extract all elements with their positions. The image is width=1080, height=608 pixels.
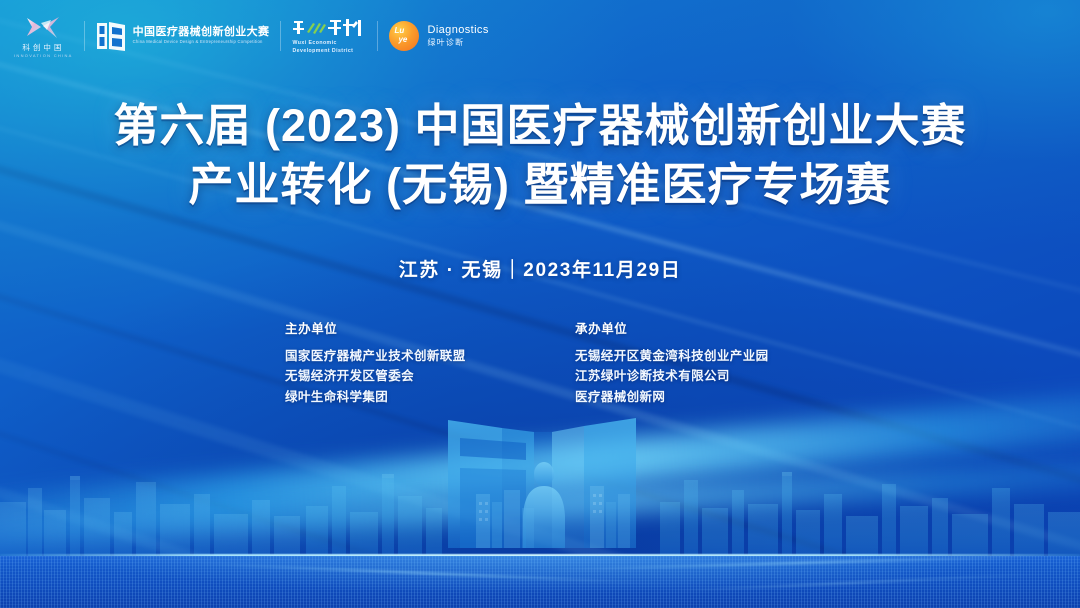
logo-cmdc-cn: 中国医疗器械创新创业大赛 [133,27,270,38]
page-title: 第六届 (2023) 中国医疗器械创新创业大赛 产业转化 (无锡) 暨精准医疗专… [0,96,1080,215]
logo-innovation-china-en: INNOVATION CHINA [14,54,73,58]
host-heading: 主办单位 [285,318,575,337]
horizon-glow-band-secondary [0,450,1080,554]
host-item: 无锡经济开发区管委会 [285,366,575,386]
organizers-section: 主办单位 国家医疗器械产业技术创新联盟 无锡经济开发区管委会 绿叶生命科学集团 … [0,318,1080,407]
host-item: 国家医疗器械产业技术创新联盟 [285,346,575,366]
wuxi-calligraphy-mark-icon [292,18,366,38]
logo-luye-cn: 绿叶诊断 [427,39,488,47]
logo-wuxi-edd-en-line2: Development District [292,48,353,55]
coorganizer-item: 江苏绿叶诊断技术有限公司 [575,366,795,386]
light-rays-decoration [0,0,1080,608]
butterfly-mark-icon [23,14,63,42]
gate-door-motif-icon [430,398,660,558]
title-line-2: 产业转化 (无锡) 暨精准医疗专场赛 [0,155,1080,214]
ground-plane-grid [0,556,1080,608]
logo-divider-2 [280,21,281,51]
logo-cmdc[interactable]: 中国医疗器械创新创业大赛 China Medical Device Design… [96,21,270,51]
host-organizers-column: 主办单位 国家医疗器械产业技术创新联盟 无锡经济开发区管委会 绿叶生命科学集团 [285,318,575,407]
luye-badge-top: Lu [394,27,404,35]
title-line-1: 第六届 (2023) 中国医疗器械创新创业大赛 [0,96,1080,155]
coorganizer-heading: 承办单位 [575,318,795,337]
logo-luye-diagnostics[interactable]: Lu ye Diagnostics 绿叶诊断 [389,21,488,51]
luye-circle-icon: Lu ye [389,21,419,51]
event-poster: 科创中国 INNOVATION CHINA 中国医疗器械创新创业大赛 China… [0,0,1080,608]
coorganizer-item: 医疗器械创新网 [575,387,795,407]
logo-cmdc-en: China Medical Device Design & Entreprene… [133,40,270,44]
logo-divider-1 [84,21,85,51]
sponsor-logo-bar: 科创中国 INNOVATION CHINA 中国医疗器械创新创业大赛 China… [0,0,1080,72]
city-skyline-silhouette [0,416,1080,556]
luye-badge-bottom: ye [398,36,407,44]
logo-innovation-china[interactable]: 科创中国 INNOVATION CHINA [14,14,73,58]
logo-wuxi-edd-en-line1: Wuxi Economic [292,40,336,47]
logo-wuxi-edd[interactable]: Wuxi Economic Development District [292,18,366,55]
logo-luye-en: Diagnostics [427,25,488,36]
logo-divider-3 [377,21,378,51]
open-door-mark-icon [96,21,126,51]
host-item: 绿叶生命科学集团 [285,387,575,407]
coorganizer-item: 无锡经开区黄金湾科技创业产业园 [575,346,795,366]
coorganizer-column: 承办单位 无锡经开区黄金湾科技创业产业园 江苏绿叶诊断技术有限公司 医疗器械创新… [575,318,795,407]
event-location-date: 江苏 · 无锡｜2023年11月29日 [0,255,1080,282]
logo-innovation-china-cn: 科创中国 [22,44,64,52]
